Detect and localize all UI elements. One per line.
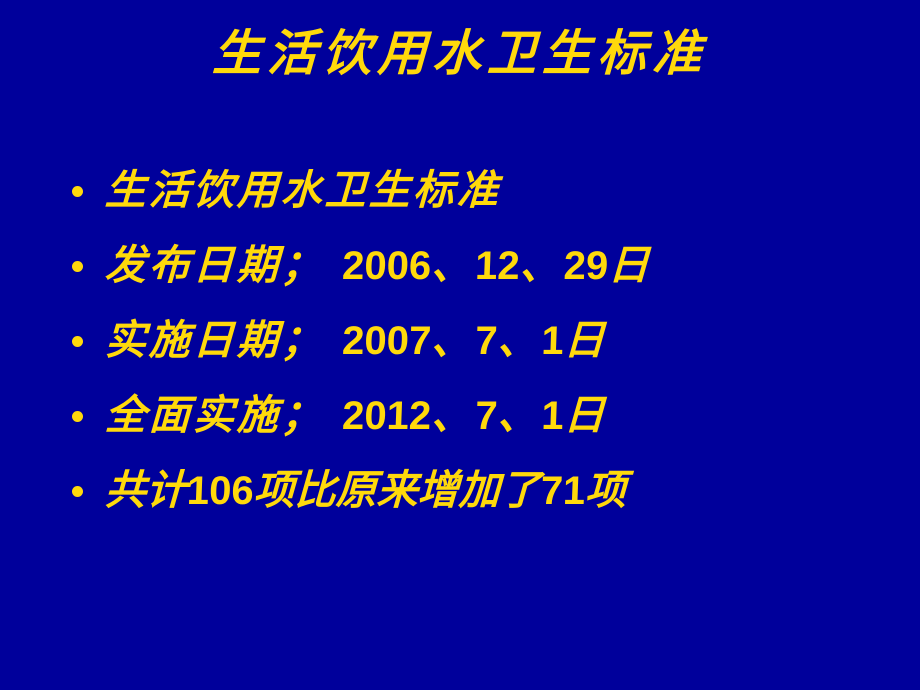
text-run: 、: [497, 391, 543, 439]
text-run: 项: [584, 466, 627, 514]
text-run: 、: [519, 241, 565, 289]
list-item-label: 发布日期； 2006、12、29日: [104, 235, 653, 296]
numeric-value: 1: [541, 394, 565, 438]
presentation-slide: 生活饮用水卫生标准 生活饮用水卫生标准发布日期； 2006、12、29日实施日期…: [0, 0, 920, 690]
bullet-dot-icon: [72, 486, 83, 497]
numeric-value: 7: [474, 319, 498, 363]
page-title: 生活饮用水卫生标准: [0, 22, 920, 84]
text-run: 生活饮用水卫生标准: [104, 166, 502, 214]
list-item-label: 共计106项比原来增加了71项: [104, 460, 627, 521]
list-item: 全面实施； 2012、7、1日: [62, 385, 902, 460]
list-item: 发布日期； 2006、12、29日: [62, 235, 902, 310]
bullet-dot-icon: [72, 186, 83, 197]
text-run: 共计: [104, 466, 188, 514]
bullet-dot-icon: [72, 261, 83, 272]
text-run: 、: [430, 391, 476, 439]
numeric-value: 7: [474, 394, 498, 438]
bullet-dot-icon: [72, 336, 83, 347]
numeric-value: 2006: [341, 244, 432, 288]
list-item: 共计106项比原来增加了71项: [62, 460, 902, 535]
text-run: 日: [607, 241, 653, 289]
text-run: 全面实施；: [104, 391, 343, 439]
text-run: 项比原来增加了: [253, 466, 542, 514]
numeric-value: 29: [563, 244, 609, 288]
bullet-list: 生活饮用水卫生标准发布日期； 2006、12、29日实施日期； 2007、7、1…: [62, 160, 902, 535]
text-run: 实施日期；: [104, 316, 343, 364]
text-run: 、: [430, 316, 476, 364]
list-item-label: 生活饮用水卫生标准: [104, 160, 502, 220]
text-run: 日: [563, 391, 609, 439]
list-item: 生活饮用水卫生标准: [62, 160, 902, 235]
numeric-value: 71: [540, 469, 586, 513]
bullet-dot-icon: [72, 411, 83, 422]
numeric-value: 2007: [341, 319, 432, 363]
list-item-label: 实施日期； 2007、7、1日: [104, 310, 609, 371]
numeric-value: 2012: [341, 394, 432, 438]
text-run: 日: [563, 316, 609, 364]
numeric-value: 1: [541, 319, 565, 363]
list-item: 实施日期； 2007、7、1日: [62, 310, 902, 385]
numeric-value: 106: [186, 469, 254, 513]
list-item-label: 全面实施； 2012、7、1日: [104, 385, 609, 446]
text-run: 发布日期；: [104, 241, 343, 289]
text-run: 、: [430, 241, 476, 289]
numeric-value: 12: [474, 244, 520, 288]
text-run: 、: [497, 316, 543, 364]
